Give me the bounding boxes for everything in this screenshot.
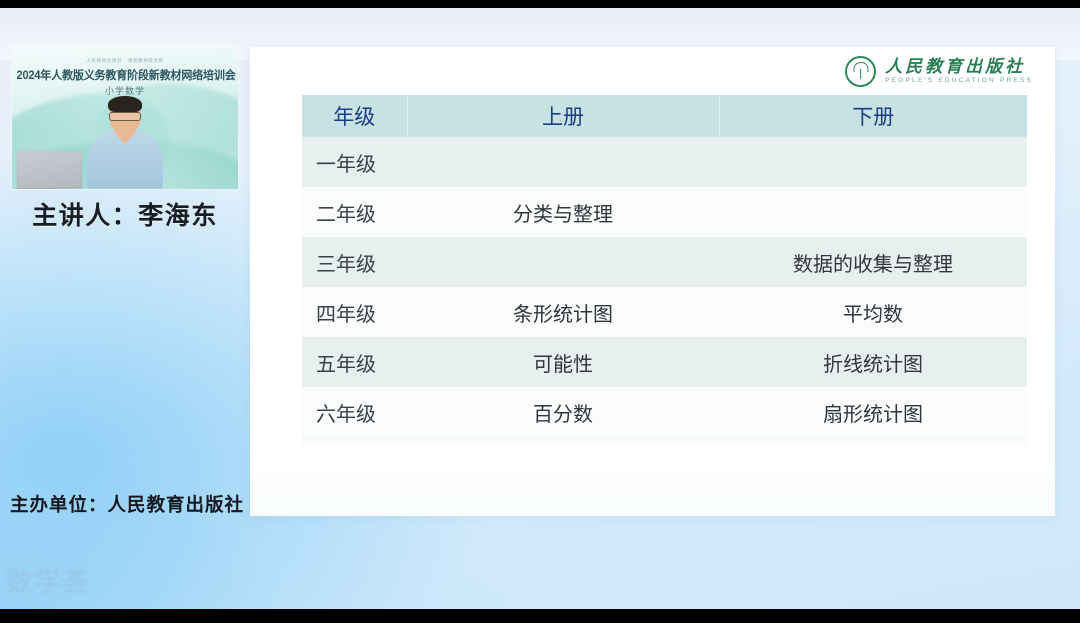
slide-canvas: 人民教育出版社 · 课程教材研究所 2024年人教版义务教育阶段新教材网络培训会… [0, 8, 1080, 609]
column-header-vol1: 上册 [407, 95, 719, 137]
watermark-label: 数学荟 [6, 560, 90, 599]
thumbnail-title: 2024年人教版义务教育阶段新教材网络培训会 [17, 67, 234, 83]
publisher-name-en: PEOPLE'S EDUCATION PRESS [885, 78, 1033, 85]
cell-vol2: 扇形统计图 [719, 387, 1027, 437]
slide-content-panel: 人民教育出版社 PEOPLE'S EDUCATION PRESS 年级 上册 下… [250, 47, 1055, 516]
cell-vol2 [719, 137, 1027, 187]
publisher-logo: 人民教育出版社 PEOPLE'S EDUCATION PRESS [845, 56, 1033, 87]
table-head: 年级 上册 下册 [302, 95, 1027, 137]
cell-vol1: 分类与整理 [407, 187, 719, 237]
table-row: 三年级 数据的收集与整理 [302, 237, 1027, 287]
cell-vol2: 折线统计图 [719, 337, 1027, 387]
cell-vol2 [719, 187, 1027, 237]
pep-emblem-icon [845, 56, 876, 87]
table-row: 五年级 可能性 折线统计图 [302, 337, 1027, 387]
publisher-wordmark: 人民教育出版社 PEOPLE'S EDUCATION PRESS [885, 58, 1033, 85]
cell-grade: 四年级 [302, 287, 407, 337]
cell-grade: 一年级 [302, 137, 407, 187]
letterbox-top [0, 0, 1080, 8]
laptop-icon [17, 150, 82, 189]
presenter-thumbnail[interactable]: 人民教育出版社 · 课程教材研究所 2024年人教版义务教育阶段新教材网络培训会… [12, 46, 238, 189]
cell-vol2: 平均数 [719, 287, 1027, 337]
cell-vol1: 可能性 [407, 337, 719, 387]
cell-grade: 五年级 [302, 337, 407, 387]
presenter-panel: 人民教育出版社 · 课程教材研究所 2024年人教版义务教育阶段新教材网络培训会… [0, 8, 250, 609]
cell-grade: 二年级 [302, 187, 407, 237]
table-body: 一年级 二年级 分类与整理 三年级 数据的收集与整理 [302, 137, 1027, 437]
table-row: 六年级 百分数 扇形统计图 [302, 387, 1027, 437]
video-player-frame: 人民教育出版社 · 课程教材研究所 2024年人教版义务教育阶段新教材网络培训会… [0, 0, 1080, 623]
publisher-name-cn: 人民教育出版社 [885, 58, 1033, 75]
grade-topic-table: 年级 上册 下册 一年级 二年级 分类与整理 [302, 95, 1027, 437]
table-row: 二年级 分类与整理 [302, 187, 1027, 237]
table-bottom-fade [302, 437, 1027, 449]
table-row: 四年级 条形统计图 平均数 [302, 287, 1027, 337]
cell-grade: 三年级 [302, 237, 407, 287]
presenter-hair [108, 96, 142, 113]
cell-vol1 [407, 137, 719, 187]
cell-vol2: 数据的收集与整理 [719, 237, 1027, 287]
table-header-row: 年级 上册 下册 [302, 95, 1027, 137]
cell-vol1 [407, 237, 719, 287]
presenter-name-label: 主讲人：李海东 [0, 196, 250, 232]
glasses-icon [109, 112, 141, 121]
presenter-portrait-icon [80, 98, 170, 189]
column-header-vol2: 下册 [719, 95, 1027, 137]
organizer-label: 主办单位：人民教育出版社 [10, 491, 244, 517]
thumbnail-institution-line: 人民教育出版社 · 课程教材研究所 [12, 58, 238, 64]
letterbox-bottom [0, 609, 1080, 623]
cell-vol1: 百分数 [407, 387, 719, 437]
table-row: 一年级 [302, 137, 1027, 187]
cell-vol1: 条形统计图 [407, 287, 719, 337]
cell-grade: 六年级 [302, 387, 407, 437]
column-header-grade: 年级 [302, 95, 407, 137]
